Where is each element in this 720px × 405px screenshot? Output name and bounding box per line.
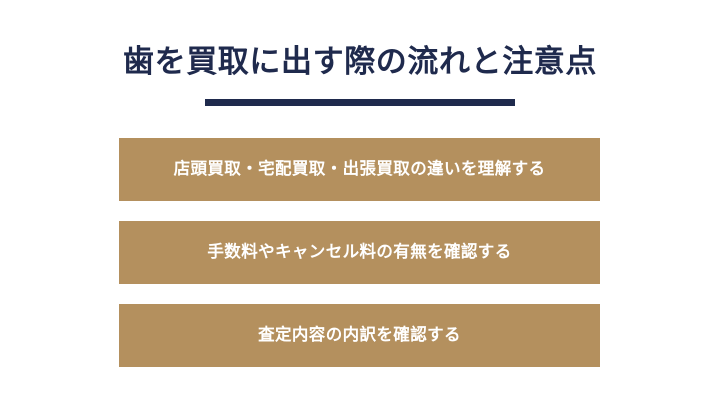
step-box-3: 査定内容の内訳を確認する — [119, 304, 600, 367]
step-label-3: 査定内容の内訳を確認する — [258, 326, 461, 346]
title-underline-rule — [205, 99, 515, 106]
page-title: 歯を買取に出す際の流れと注意点 — [0, 40, 720, 84]
steps-list: 店頭買取・宅配買取・出張買取の違いを理解する 手数料やキャンセル料の有無を確認す… — [119, 138, 600, 367]
step-label-2: 手数料やキャンセル料の有無を確認する — [207, 243, 511, 263]
slide-canvas: 歯を買取に出す際の流れと注意点 店頭買取・宅配買取・出張買取の違いを理解する 手… — [0, 0, 720, 405]
step-label-1: 店頭買取・宅配買取・出張買取の違いを理解する — [174, 160, 546, 180]
heading-block: 歯を買取に出す際の流れと注意点 — [0, 40, 720, 106]
step-box-1: 店頭買取・宅配買取・出張買取の違いを理解する — [119, 138, 600, 201]
step-box-2: 手数料やキャンセル料の有無を確認する — [119, 221, 600, 284]
